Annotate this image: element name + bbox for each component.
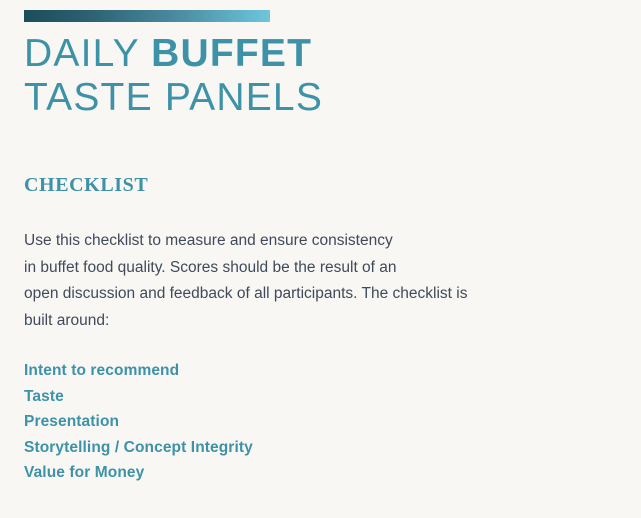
gradient-rule xyxy=(24,10,270,22)
list-item: Intent to recommend xyxy=(24,358,604,384)
title-word-daily: DAILY xyxy=(24,32,151,75)
list-item: Presentation xyxy=(24,409,604,435)
document-page: DAILY BUFFET TASTE PANELS CHECKLIST Use … xyxy=(0,0,641,518)
intro-paragraph: Use this checklist to measure and ensure… xyxy=(24,228,638,334)
intro-paragraph-line: in buffet food quality. Scores should be… xyxy=(24,255,638,282)
list-item: Storytelling / Concept Integrity xyxy=(24,435,604,461)
page-title-line-2: TASTE PANELS xyxy=(24,76,604,120)
intro-paragraph-line: open discussion and feedback of all part… xyxy=(24,281,638,308)
list-item: Value for Money xyxy=(24,460,604,486)
intro-paragraph-line: built around: xyxy=(24,308,638,335)
intro-paragraph-line: Use this checklist to measure and ensure… xyxy=(24,228,638,255)
masthead: DAILY BUFFET TASTE PANELS xyxy=(24,32,604,120)
list-item: Taste xyxy=(24,384,604,410)
criteria-list: Intent to recommend Taste Presentation S… xyxy=(24,358,604,486)
title-word-buffet: BUFFET xyxy=(151,32,312,75)
page-title-line-1: DAILY BUFFET xyxy=(24,32,604,76)
section-heading-checklist: CHECKLIST xyxy=(24,174,148,197)
